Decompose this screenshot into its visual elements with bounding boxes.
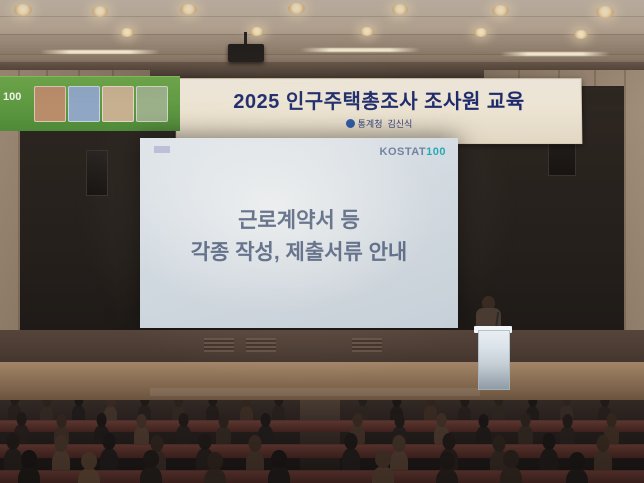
- audience-person: [540, 448, 558, 472]
- ceiling-light-strip: [500, 52, 610, 56]
- slide-logo: KOSTAT100: [380, 146, 446, 158]
- audience-person: [176, 425, 191, 445]
- left-photo-banner: 100: [0, 76, 180, 131]
- ceiling-light: [360, 27, 374, 36]
- banner-photo: [68, 86, 100, 122]
- event-banner: 2025 인구주택총조사 조사원 교육 통계청 김신식: [176, 78, 583, 144]
- ceiling-light: [120, 28, 134, 37]
- ceiling-light: [14, 4, 32, 16]
- slide-logo-number: 100: [426, 146, 446, 158]
- audience-person: [134, 426, 149, 446]
- audience-seating: [0, 400, 644, 483]
- audience-person: [18, 466, 40, 483]
- slide-logo-text: KOSTAT: [380, 146, 427, 158]
- podium: [478, 330, 510, 390]
- audience-person: [4, 448, 22, 472]
- audience-person: [342, 448, 360, 472]
- left-banner-logo: 100: [3, 91, 21, 103]
- audience-person: [500, 466, 522, 483]
- pa-speaker-left: [86, 150, 108, 196]
- auditorium-photo: 2025 인구주택총조사 조사원 교육 통계청 김신식 100 KOSTAT10…: [0, 0, 644, 483]
- ceiling-light: [492, 5, 509, 16]
- audience-person: [216, 426, 231, 446]
- banner-photo: [34, 86, 66, 122]
- slide-headline-line1: 근로계약서 등: [140, 204, 458, 234]
- stage-vent: [204, 338, 234, 352]
- ceiling-light: [574, 30, 588, 39]
- ceiling-panel: [0, 16, 644, 35]
- projection-screen: KOSTAT100 근로계약서 등 각종 작성, 제출서류 안내: [140, 138, 458, 328]
- banner-photo: [136, 86, 168, 122]
- audience-person: [560, 426, 575, 446]
- stage-step: [150, 388, 480, 396]
- ceiling-light: [474, 28, 488, 37]
- ceiling-light-strip: [300, 48, 420, 52]
- ceiling-light: [92, 6, 108, 17]
- ceiling-light: [392, 4, 408, 15]
- audience-person: [476, 426, 491, 446]
- ceiling-light: [180, 4, 197, 15]
- audience-person: [372, 466, 394, 483]
- audience-person: [268, 466, 290, 483]
- stage-vent: [246, 338, 276, 352]
- slide-accent-mark: [154, 146, 170, 153]
- ceiling-light: [288, 3, 305, 14]
- audience-person: [140, 466, 162, 483]
- ceiling-light: [596, 6, 614, 18]
- audience-person: [100, 448, 118, 472]
- banner-title: 2025 인구주택총조사 조사원 교육: [177, 85, 581, 114]
- audience-person: [518, 425, 533, 445]
- stage-vent: [352, 338, 382, 352]
- slide-headline-line2: 각종 작성, 제출서류 안내: [140, 236, 458, 266]
- ceiling-light: [250, 27, 264, 36]
- banner-photo: [102, 86, 134, 122]
- ceiling-light-strip: [40, 50, 160, 54]
- banner-subtitle: 통계청 김신식: [177, 117, 581, 130]
- banner-org: 통계청: [358, 119, 383, 129]
- kostat-logo-icon: [346, 119, 355, 128]
- projector: [228, 44, 264, 62]
- banner-name: 김신식: [388, 119, 413, 129]
